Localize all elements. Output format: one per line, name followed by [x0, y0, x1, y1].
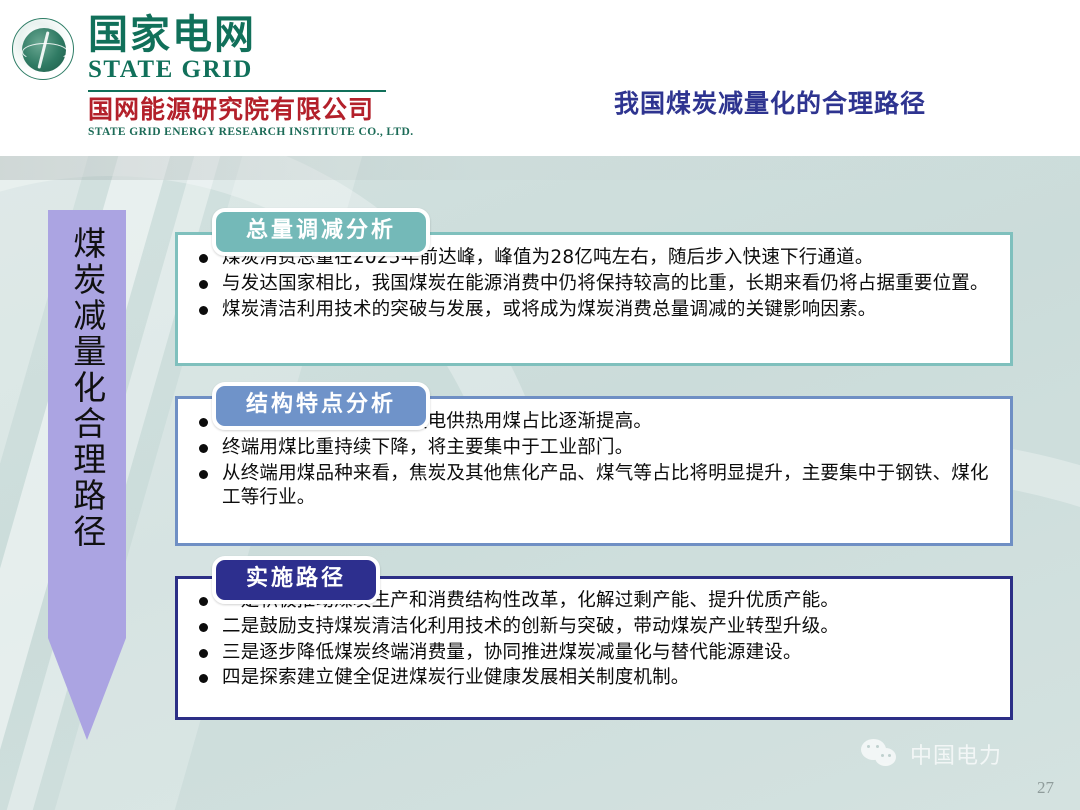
- list-item: 三是逐步降低煤炭终端消费量，协同推进煤炭减量化与替代能源建设。: [192, 641, 994, 666]
- state-grid-emblem-icon: [12, 18, 74, 80]
- page-title: 我国煤炭减量化的合理路径: [490, 84, 1050, 120]
- list-item: 煤炭清洁利用技术的突破与发展，或将成为煤炭消费总量调减的关键影响因素。: [192, 298, 994, 323]
- wechat-icon: [861, 739, 901, 769]
- section-header-total-reduction[interactable]: 总量调减分析: [212, 208, 430, 256]
- arrow-head-triangle: [48, 638, 126, 740]
- section-badge-label: 总量调减分析: [212, 208, 430, 256]
- list-item: 终端用煤比重持续下降，将主要集中于工业部门。: [192, 436, 994, 461]
- list-item: 与发达国家相比，我国煤炭在能源消费中仍将保持较高的比重，长期来看仍将占据重要位置…: [192, 272, 994, 297]
- vertical-arrow-banner: 煤炭减量化合理路径: [48, 210, 126, 740]
- brand-text-block: 国家电网 STATE GRID 国网能源研究院有限公司 STATE GRID E…: [88, 14, 413, 138]
- section-header-implementation-path[interactable]: 实施路径: [212, 556, 380, 604]
- list-item: 从终端用煤品种来看，焦炭及其他焦化产品、煤气等占比将明显提升，主要集中于钢铁、煤…: [192, 462, 994, 512]
- arrow-body: 煤炭减量化合理路径: [48, 210, 126, 638]
- slide-header: 国家电网 STATE GRID 国网能源研究院有限公司 STATE GRID E…: [0, 0, 1080, 156]
- page-number: 27: [1037, 778, 1054, 798]
- section-header-structure-features[interactable]: 结构特点分析: [212, 382, 430, 430]
- watermark-label: 中国电力: [910, 738, 1002, 770]
- arrow-label: 煤炭减量化合理路径: [68, 226, 106, 550]
- organization-logo: 国家电网 STATE GRID 国网能源研究院有限公司 STATE GRID E…: [12, 14, 413, 138]
- list-item: 二是鼓励支持煤炭清洁化利用技术的创新与突破，带动煤炭产业转型升级。: [192, 615, 994, 640]
- brand-name-en: STATE GRID: [88, 56, 413, 84]
- section-badge-label: 实施路径: [212, 556, 380, 604]
- institute-name-en: STATE GRID ENERGY RESEARCH INSTITUTE CO.…: [88, 126, 413, 138]
- slide-canvas: 国家电网 STATE GRID 国网能源研究院有限公司 STATE GRID E…: [0, 0, 1080, 810]
- list-item: 四是探索建立健全促进煤炭行业健康发展相关制度机制。: [192, 666, 994, 691]
- brand-divider: [88, 90, 386, 92]
- section-badge-label: 结构特点分析: [212, 382, 430, 430]
- institute-name-cn: 国网能源研究院有限公司: [88, 96, 413, 125]
- brand-name-cn: 国家电网: [88, 14, 413, 56]
- wechat-watermark: 中国电力: [861, 738, 1002, 770]
